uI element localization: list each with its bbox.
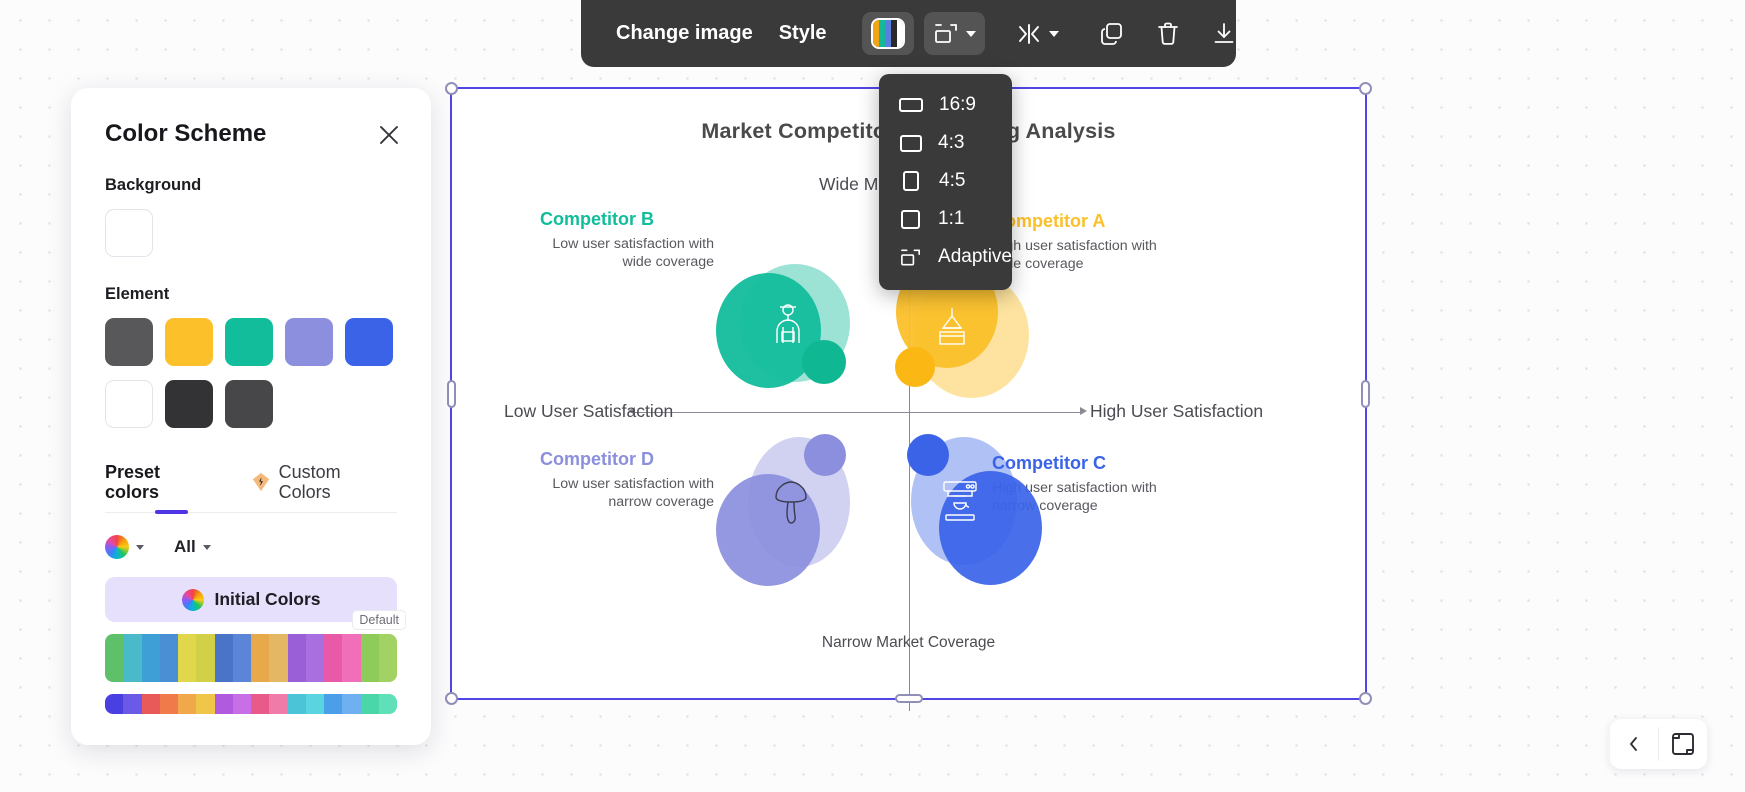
panel-title: Color Scheme <box>105 120 397 148</box>
color-scheme-panel: Color Scheme Background Element Preset c… <box>71 88 431 745</box>
category-filter-label: All <box>174 537 196 557</box>
preset-filters: All <box>105 535 397 559</box>
fullscreen-button[interactable] <box>1659 719 1707 769</box>
element-swatch-teal[interactable] <box>225 318 273 366</box>
chevron-down-icon <box>1049 31 1059 37</box>
quadrant-desc-b: Low user satisfaction with wide coverage <box>529 236 714 272</box>
menu-item-1-1[interactable]: 1:1 <box>879 200 1012 238</box>
preset-palette-initial[interactable] <box>105 634 397 682</box>
align-button[interactable] <box>1007 12 1068 55</box>
download-button[interactable] <box>1203 12 1245 55</box>
color-wheel-filter[interactable] <box>105 535 144 559</box>
preset-palette-next[interactable] <box>105 694 397 714</box>
aspect-ratio-button[interactable] <box>924 12 985 55</box>
resize-handle-right[interactable] <box>1361 380 1370 408</box>
download-icon <box>1212 21 1236 46</box>
color-tabs: Preset colors Custom Colors <box>105 462 397 513</box>
person-service-icon <box>767 301 809 347</box>
chart-horizontal-axis <box>633 412 1083 413</box>
menu-item-label: 1:1 <box>938 208 964 230</box>
menu-item-4-5[interactable]: 4:5 <box>879 162 1012 200</box>
color-scheme-button[interactable] <box>862 12 914 55</box>
market-stall-icon <box>930 304 974 348</box>
rect-4-3-icon <box>900 135 922 152</box>
menu-item-16-9[interactable]: 16:9 <box>879 86 1012 124</box>
quadrant-desc-a: High user satisfaction with wide coverag… <box>992 238 1177 274</box>
coffee-machine-icon <box>939 479 981 525</box>
element-swatch-charcoal[interactable] <box>225 380 273 428</box>
quadrant-title-b: Competitor B <box>540 209 654 230</box>
resize-handle-top-right[interactable] <box>1359 82 1372 95</box>
element-swatch-blue[interactable] <box>345 318 393 366</box>
rect-1-1-icon <box>901 210 920 229</box>
expand-frame-icon <box>1670 731 1696 757</box>
background-section-label: Background <box>105 176 397 195</box>
preset-name: Initial Colors <box>215 589 321 610</box>
quadrant-title-d: Competitor D <box>540 449 654 470</box>
menu-item-label: 4:3 <box>938 132 964 154</box>
resize-handle-bottom[interactable] <box>895 694 923 703</box>
close-panel-button[interactable] <box>375 121 403 149</box>
axis-label-narrow-coverage: Narrow Market Coverage <box>452 634 1365 652</box>
close-icon <box>375 121 403 149</box>
axis-label-high-satisfaction: High User Satisfaction <box>1090 401 1263 422</box>
copy-icon <box>1099 21 1124 46</box>
default-badge: Default <box>352 610 406 630</box>
resize-handle-bottom-left[interactable] <box>445 692 458 705</box>
rect-4-5-icon <box>903 171 919 191</box>
menu-item-adaptive[interactable]: Adaptive <box>879 238 1012 276</box>
axis-label-low-satisfaction: Low User Satisfaction <box>504 401 673 422</box>
quadrant-desc-d: Low user satisfaction with narrow covera… <box>529 476 714 512</box>
axis-arrow-right <box>1080 407 1087 415</box>
tab-preset-colors[interactable]: Preset colors <box>105 462 219 502</box>
element-section-label: Element <box>105 285 397 304</box>
color-palette-icon <box>871 18 905 49</box>
category-filter-all[interactable]: All <box>174 537 211 557</box>
chevron-down-icon <box>136 545 144 550</box>
chevron-down-icon <box>966 31 976 37</box>
background-color-swatch[interactable] <box>105 209 153 257</box>
menu-item-label: Adaptive <box>938 246 1012 268</box>
color-wheel-icon <box>182 589 204 611</box>
menu-item-label: 4:5 <box>939 170 965 192</box>
adaptive-frame-icon <box>899 247 922 268</box>
preset-initial-colors[interactable]: Initial Colors Default <box>105 577 397 622</box>
rect-16-9-icon <box>899 98 923 112</box>
tab-custom-colors-label: Custom Colors <box>279 462 397 502</box>
prev-button[interactable] <box>1610 719 1658 769</box>
tab-active-underline <box>155 510 188 514</box>
image-toolbar: Change image Style <box>581 0 1236 67</box>
trash-icon <box>1156 21 1180 46</box>
mini-controls <box>1610 719 1707 769</box>
diamond-spark-icon <box>251 472 271 492</box>
element-swatch-yellow[interactable] <box>165 318 213 366</box>
element-swatch-near-black[interactable] <box>165 380 213 428</box>
element-swatch-periwinkle[interactable] <box>285 318 333 366</box>
element-swatch-row-1 <box>105 318 397 366</box>
menu-item-label: 16:9 <box>939 94 976 116</box>
mushroom-icon <box>772 479 810 525</box>
change-image-button[interactable]: Change image <box>603 22 766 45</box>
style-button[interactable]: Style <box>766 22 840 45</box>
duplicate-button[interactable] <box>1090 12 1133 55</box>
align-center-horizontal-icon <box>1016 23 1042 45</box>
resize-handle-top-left[interactable] <box>445 82 458 95</box>
aspect-ratio-menu: 16:9 4:3 4:5 1:1 Adaptive <box>879 74 1012 290</box>
resize-handle-bottom-right[interactable] <box>1359 692 1372 705</box>
element-swatch-dark-gray[interactable] <box>105 318 153 366</box>
chevron-down-icon <box>203 545 211 550</box>
resize-handle-left[interactable] <box>447 380 456 408</box>
element-swatch-row-2 <box>105 380 397 428</box>
chevron-left-icon <box>1627 735 1641 753</box>
delete-button[interactable] <box>1147 12 1189 55</box>
menu-item-4-3[interactable]: 4:3 <box>879 124 1012 162</box>
tab-custom-colors[interactable]: Custom Colors <box>251 462 397 502</box>
crop-frame-icon <box>933 22 959 46</box>
color-wheel-icon <box>105 535 129 559</box>
element-swatch-white[interactable] <box>105 380 153 428</box>
